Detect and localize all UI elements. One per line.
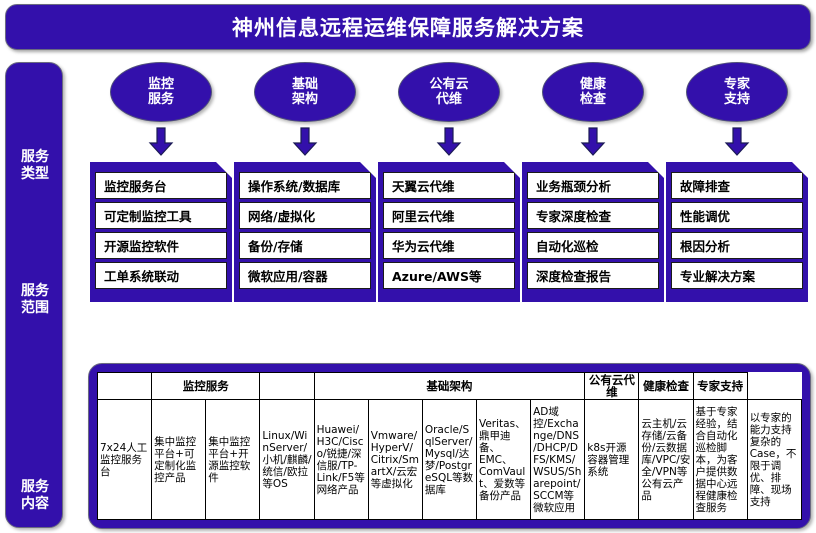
service-scope-card-health-check: 业务瓶颈分析专家深度检查自动化巡检深度检查报告 [522,162,664,302]
service-type-ellipse-monitoring-service[interactable]: 监控服务 [110,62,212,122]
service-scope-card-infrastructure: 操作系统/数据库网络/虚拟化备份/存储微软应用/容器 [234,162,376,302]
sidebar-label-service-type: 服务类型 [6,149,64,183]
scope-item[interactable]: 阿里云代维 [383,202,515,229]
page-title: 神州信息远程运维保障服务解决方案 [232,12,584,42]
scope-item[interactable]: Azure/AWS等 [383,262,515,289]
service-type-ellipse-expert-support[interactable]: 专家支持 [686,62,788,122]
table-cell: Linux/WinServer/小机/麒麟/统信/欧拉等OS [260,400,314,520]
service-type-label: 基础架构 [292,77,318,107]
table-cell: 7x24人工监控服务台 [98,400,152,520]
scope-item[interactable]: 专业解决方案 [671,262,803,289]
table-cell: 云主机/云存储/云备份/云数据库/VPC/安全/VPN等公有云产品 [639,400,693,520]
scope-item[interactable]: 深度检查报告 [527,262,659,289]
arrow-down-icon [666,122,808,162]
scope-item[interactable]: 备份/存储 [239,232,371,259]
sidebar-label-service-scope: 服务范围 [6,283,64,317]
table-cell: Huawei/H3C/Cisco/锐捷/深信服/TP-Link/F5等网络产品 [314,400,368,520]
table-group-header-empty [260,373,314,400]
service-type-label: 专家支持 [724,77,750,107]
service-scope-card-expert-support: 故障排查性能调优根因分析专业解决方案 [666,162,808,302]
service-column-expert-support: 专家支持故障排查性能调优根因分析专业解决方案 [666,62,808,302]
service-content-table: 监控服务基础架构公有云代维健康检查专家支持 7x24人工监控服务台集中监控平台+… [97,372,802,520]
table-cell: 以专家的能力支持复杂的Case，不限于调优、排障、现场支持 [747,400,801,520]
service-type-ellipse-public-cloud-ops[interactable]: 公有云代维 [398,62,500,122]
page-title-banner: 神州信息远程运维保障服务解决方案 [5,4,811,50]
service-column-health-check: 健康检查业务瓶颈分析专家深度检查自动化巡检深度检查报告 [522,62,664,302]
table-row: 7x24人工监控服务台集中监控平台+可定制化监控产品集中监控平台+开源监控软件L… [98,400,802,520]
table-header-row: 监控服务基础架构公有云代维健康检查专家支持 [98,373,802,400]
service-type-label: 公有云代维 [429,77,468,107]
table-group-header-empty [98,373,152,400]
scope-item[interactable]: 自动化巡检 [527,232,659,259]
arrow-down-icon [522,122,664,162]
service-column-monitoring-service: 监控服务监控服务台可定制监控工具开源监控软件工单系统联动 [90,62,232,302]
scope-item[interactable]: 性能调优 [671,202,803,229]
table-group-header: 专家支持 [693,373,747,400]
arrow-down-icon [378,122,520,162]
table-cell: Veritas、鼎甲迪备、EMC、ComVault、爱数等备份产品 [476,400,530,520]
service-column-infrastructure: 基础架构操作系统/数据库网络/虚拟化备份/存储微软应用/容器 [234,62,376,302]
scope-item[interactable]: 工单系统联动 [95,262,227,289]
table-cell: Vmware/HyperV/Citrix/SmartX/云宏等虚拟化 [368,400,422,520]
service-type-ellipse-infrastructure[interactable]: 基础架构 [254,62,356,122]
scope-item[interactable]: 微软应用/容器 [239,262,371,289]
arrow-down-icon [90,122,232,162]
scope-item[interactable]: 天翼云代维 [383,172,515,199]
table-cell: k8s开源容器管理系统 [585,400,639,520]
scope-item[interactable]: 监控服务台 [95,172,227,199]
table-group-header: 基础架构 [314,373,585,400]
service-content-panel: 监控服务基础架构公有云代维健康检查专家支持 7x24人工监控服务台集中监控平台+… [88,363,811,529]
scope-item[interactable]: 业务瓶颈分析 [527,172,659,199]
service-scope-card-monitoring-service: 监控服务台可定制监控工具开源监控软件工单系统联动 [90,162,232,302]
table-group-header: 健康检查 [639,373,693,400]
table-cell: 集中监控平台+可定制化监控产品 [152,400,206,520]
scope-item[interactable]: 专家深度检查 [527,202,659,229]
table-cell: 基于专家经验，结合自动化巡检脚本，为客户提供数据中心远程健康检查服务 [693,400,747,520]
service-type-ellipse-health-check[interactable]: 健康检查 [542,62,644,122]
scope-item[interactable]: 故障排查 [671,172,803,199]
scope-item[interactable]: 根因分析 [671,232,803,259]
scope-item[interactable]: 操作系统/数据库 [239,172,371,199]
table-group-header: 公有云代维 [585,373,639,400]
sidebar-label-service-content: 服务内容 [6,479,64,513]
table-cell: Oracle/SqlServer/Mysql/达梦/PostgreSQL等数据库 [422,400,476,520]
service-column-public-cloud-ops: 公有云代维天翼云代维阿里云代维华为云代维Azure/AWS等 [378,62,520,302]
scope-item[interactable]: 可定制监控工具 [95,202,227,229]
service-scope-card-public-cloud-ops: 天翼云代维阿里云代维华为云代维Azure/AWS等 [378,162,520,302]
arrow-down-icon [234,122,376,162]
scope-item[interactable]: 华为云代维 [383,232,515,259]
service-type-label: 健康检查 [580,77,606,107]
service-type-label: 监控服务 [148,77,174,107]
row-label-sidebar: 服务类型 服务范围 服务内容 [5,62,63,528]
table-group-header: 监控服务 [152,373,260,400]
table-cell: 集中监控平台+开源监控软件 [206,400,260,520]
scope-item[interactable]: 开源监控软件 [95,232,227,259]
table-cell: AD域控/Exchange/DNS/DHCP/DFS/KMS/WSUS/Shar… [531,400,585,520]
scope-item[interactable]: 网络/虚拟化 [239,202,371,229]
